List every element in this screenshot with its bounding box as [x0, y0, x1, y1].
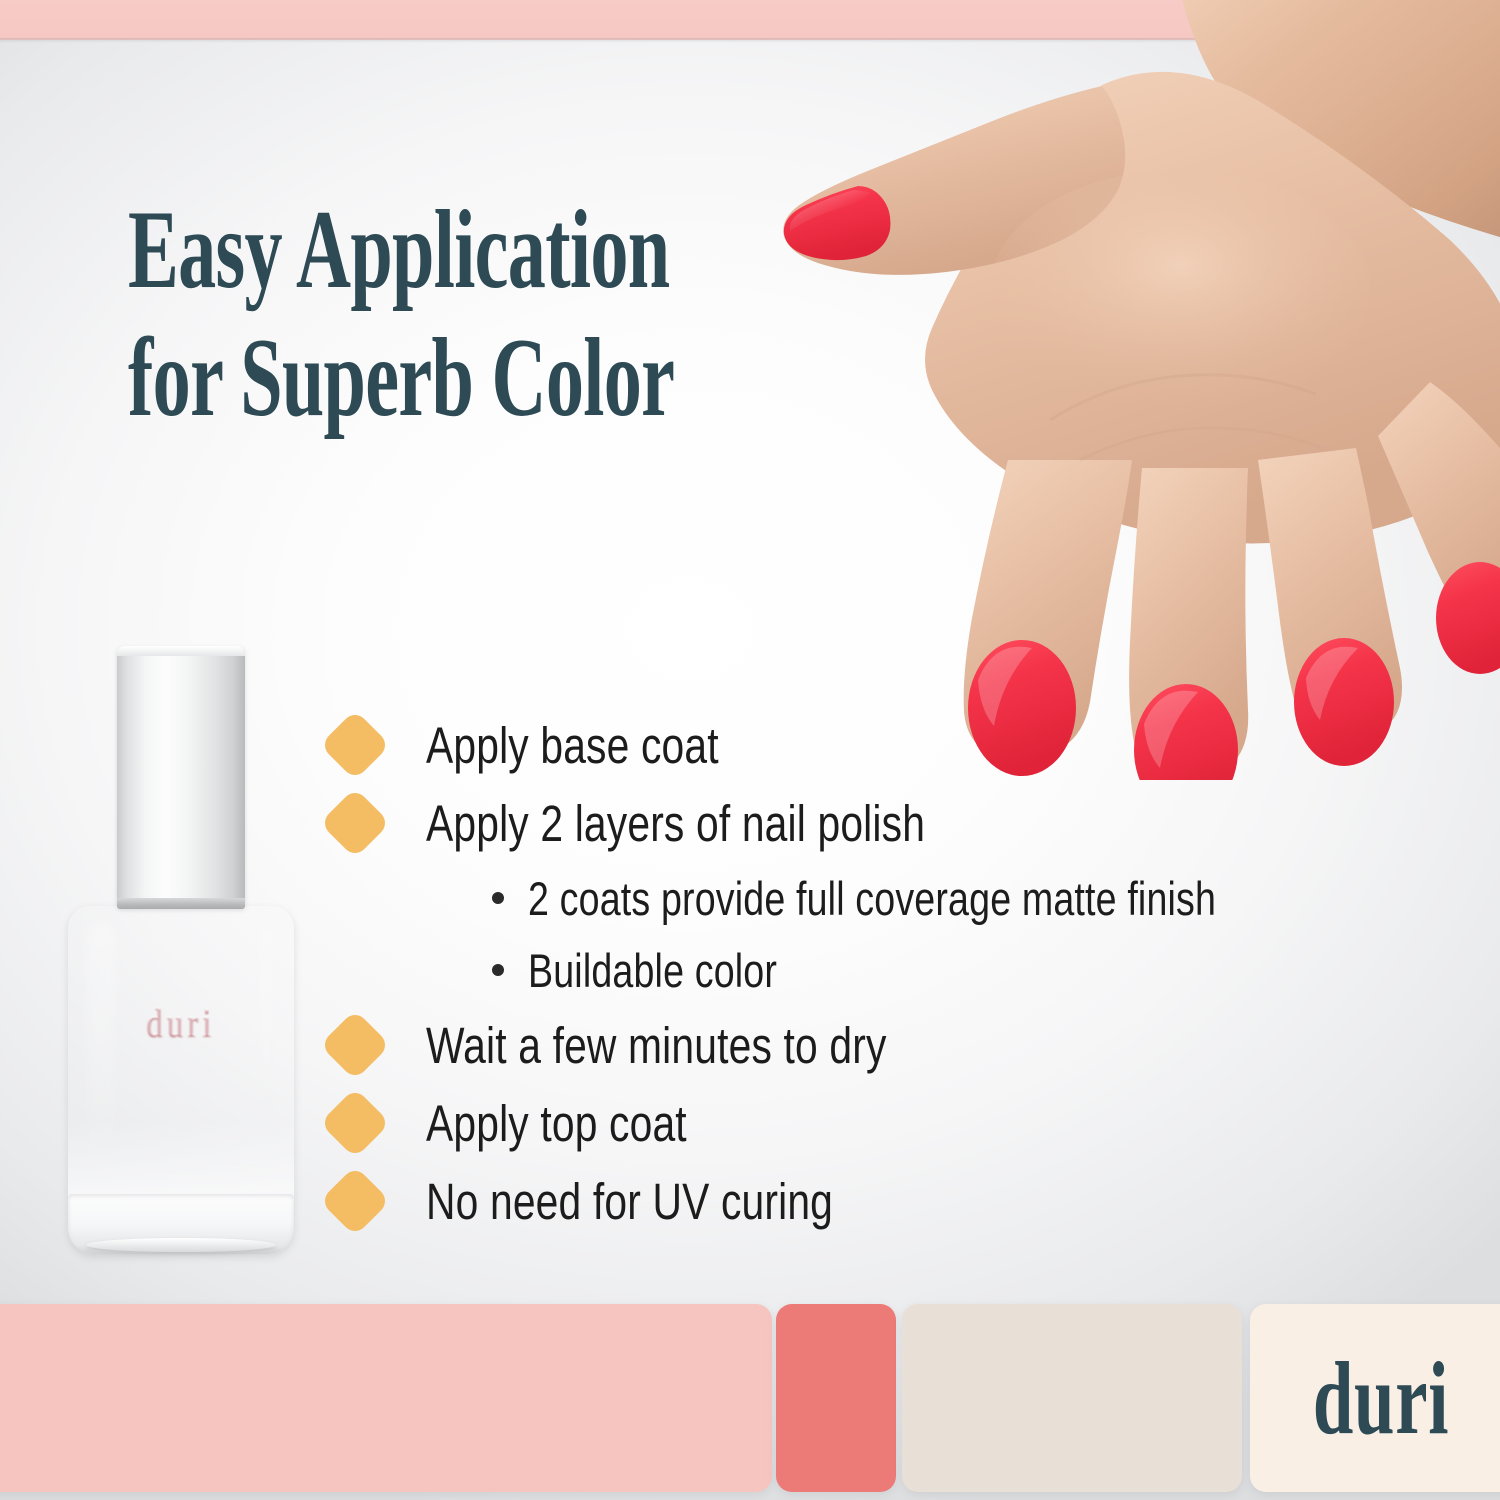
diamond-bullet-icon [320, 1166, 391, 1237]
swatch-coral [776, 1304, 896, 1492]
list-item: Buildable color [330, 934, 1470, 1006]
bottle-cap [117, 646, 245, 908]
step-label: Buildable color [528, 947, 777, 994]
hand-with-painted-nails-image [750, 0, 1500, 780]
diamond-bullet-icon [320, 710, 391, 781]
step-label: Apply 2 layers of nail polish [426, 798, 925, 849]
dot-bullet-icon [492, 892, 504, 904]
swatch-light-pink [0, 1304, 772, 1492]
step-label: Wait a few minutes to dry [426, 1020, 887, 1071]
diamond-bullet-icon [320, 1088, 391, 1159]
list-item: 2 coats provide full coverage matte fini… [330, 862, 1470, 934]
list-item: Apply 2 layers of nail polish [330, 784, 1470, 862]
step-label: No need for UV curing [426, 1176, 833, 1227]
list-item: No need for UV curing [330, 1162, 1470, 1240]
page-title-line-1: Easy Application [128, 196, 674, 306]
page-title: Easy Application for Superb Color [128, 196, 674, 434]
list-item: Wait a few minutes to dry [330, 1006, 1470, 1084]
list-item: Apply base coat [330, 706, 1470, 784]
step-label: 2 coats provide full coverage matte fini… [528, 875, 1216, 922]
bottle-embossed-logo: duri [83, 998, 278, 1045]
diamond-bullet-icon [320, 788, 391, 859]
diamond-bullet-icon [320, 1010, 391, 1081]
bottle-cap-top [117, 646, 245, 656]
infographic-canvas: Easy Application for Superb Color Apply … [0, 0, 1500, 1500]
step-label: Apply top coat [426, 1098, 687, 1149]
brand-logo: duri [1289, 1304, 1472, 1492]
swatch-greige [902, 1304, 1242, 1492]
bottle-base-ring [86, 1238, 276, 1252]
application-steps-list: Apply base coat Apply 2 layers of nail p… [330, 706, 1470, 1240]
step-label: Apply base coat [426, 720, 719, 771]
nail-polish-bottle-image: duri [62, 646, 300, 1254]
dot-bullet-icon [492, 964, 504, 976]
list-item: Apply top coat [330, 1084, 1470, 1162]
page-title-line-2: for Superb Color [128, 324, 674, 434]
brand-swatch-bar: duri [0, 1304, 1500, 1492]
